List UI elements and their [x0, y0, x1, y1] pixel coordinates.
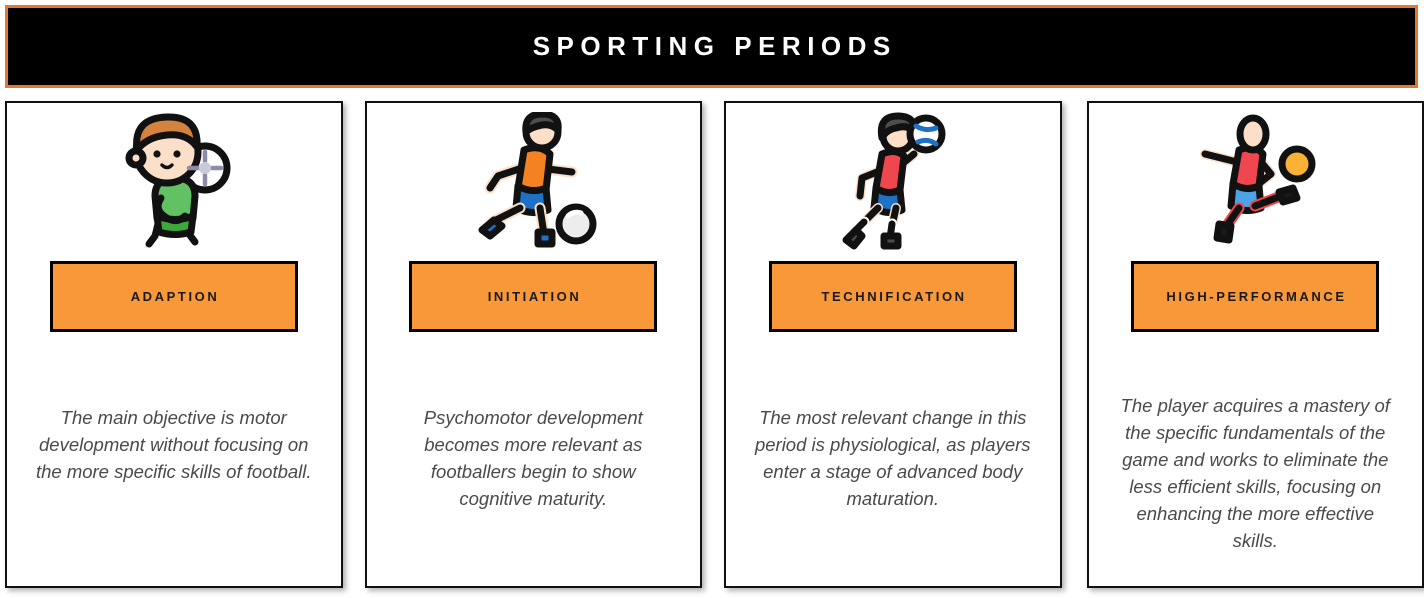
period-card-adaption[interactable]: ADAPTION The main objective is motor dev…	[5, 101, 343, 588]
player-striking-football-icon	[1089, 103, 1423, 255]
period-label-text: HIGH-PERFORMANCE	[1164, 289, 1347, 304]
period-label-text: ADAPTION	[128, 289, 219, 304]
period-description: The main objective is motor development …	[33, 404, 315, 485]
child-holding-football-icon	[7, 103, 341, 255]
period-description: Psychomotor development becomes more rel…	[392, 404, 674, 512]
period-label-box: HIGH-PERFORMANCE	[1131, 261, 1379, 332]
period-label-box: TECHNIFICATION	[769, 261, 1017, 332]
period-label-box: ADAPTION	[50, 261, 298, 332]
sporting-periods-card-row: ADAPTION The main objective is motor dev…	[0, 101, 1424, 593]
period-card-high-performance[interactable]: HIGH-PERFORMANCE The player acquires a m…	[1087, 101, 1424, 588]
period-description: The most relevant change in this period …	[752, 404, 1034, 512]
player-kicking-football-icon	[367, 103, 701, 255]
period-description: The player acquires a mastery of the spe…	[1114, 392, 1396, 554]
period-label-text: INITIATION	[485, 289, 581, 304]
player-heading-football-icon	[726, 103, 1060, 255]
period-card-technification[interactable]: TECHNIFICATION The most relevant change …	[724, 101, 1062, 588]
period-label-box: INITIATION	[409, 261, 657, 332]
page-header-banner: SPORTING PERIODS	[5, 5, 1418, 88]
period-label-text: TECHNIFICATION	[819, 289, 967, 304]
period-card-initiation[interactable]: INITIATION Psychomotor development becom…	[365, 101, 703, 588]
page-title: SPORTING PERIODS	[526, 31, 897, 62]
